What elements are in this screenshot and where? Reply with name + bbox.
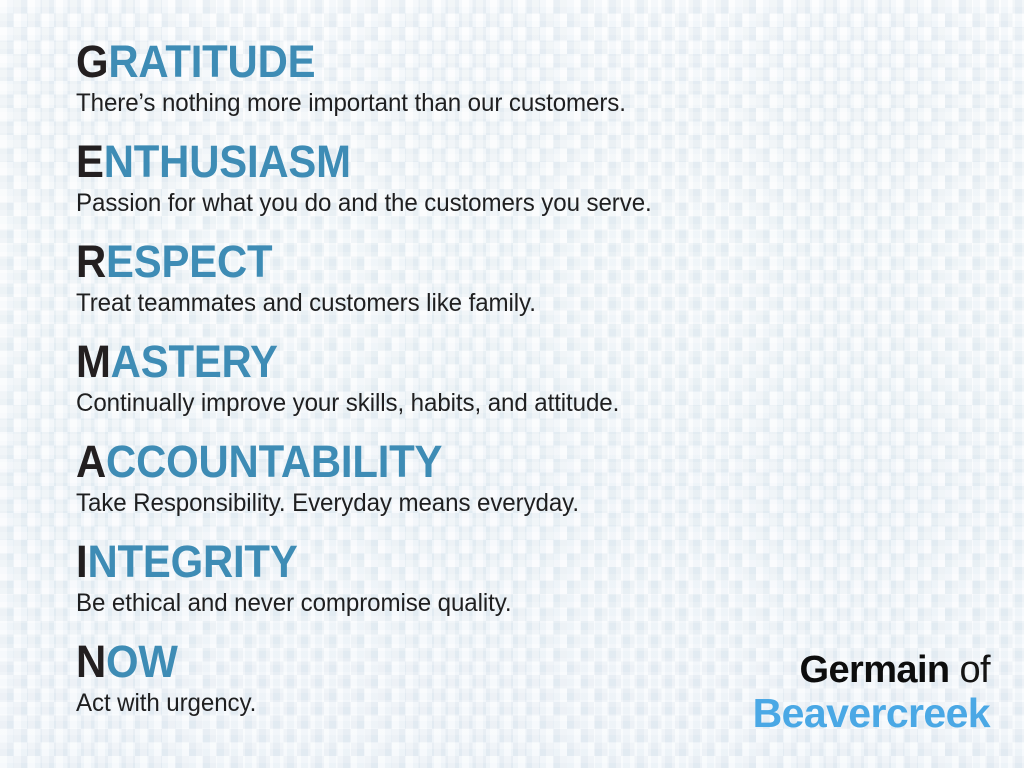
value-description-mastery: Continually improve your skills, habits,… [76, 390, 619, 416]
value-description-accountability: Take Responsibility. Everyday means ever… [76, 490, 579, 516]
value-block-now: NOW Act with urgency. [76, 639, 263, 716]
dealership-logo: Germain of Beavercreek [753, 651, 990, 734]
poster-content: GRATITUDE There’s nothing more important… [0, 0, 1024, 768]
value-remaining-letters: OW [106, 636, 178, 687]
value-description-gratitude: There’s nothing more important than our … [76, 90, 626, 116]
value-heading-gratitude: GRATITUDE [76, 39, 606, 84]
logo-brand-name: Germain [800, 649, 950, 691]
value-description-integrity: Be ethical and never compromise quality. [76, 590, 512, 616]
logo-location-name: Beavercreek [753, 693, 990, 734]
value-block-respect: RESPECT Treat teammates and customers li… [76, 239, 553, 316]
value-description-respect: Treat teammates and customers like famil… [76, 290, 536, 316]
poster-canvas: GRATITUDE There’s nothing more important… [0, 0, 1024, 768]
value-remaining-letters: RATITUDE [108, 36, 315, 87]
logo-primary-line: Germain of [753, 651, 990, 689]
value-remaining-letters: CCOUNTABILITY [106, 436, 442, 487]
value-heading-now: NOW [76, 639, 250, 684]
value-initial-letter: N [76, 636, 106, 687]
logo-connector-word: of [960, 649, 991, 691]
value-heading-enthusiasm: ENTHUSIASM [76, 139, 631, 184]
value-initial-letter: M [76, 336, 111, 387]
value-heading-respect: RESPECT [76, 239, 519, 284]
value-remaining-letters: ASTERY [111, 336, 278, 387]
value-remaining-letters: NTEGRITY [87, 536, 297, 587]
value-initial-letter: A [76, 436, 106, 487]
value-block-enthusiasm: ENTHUSIASM Passion for what you do and t… [76, 139, 673, 216]
value-block-integrity: INTEGRITY Be ethical and never compromis… [76, 539, 527, 616]
value-initial-letter: G [76, 36, 108, 87]
value-initial-letter: I [76, 536, 87, 587]
value-description-enthusiasm: Passion for what you do and the customer… [76, 190, 652, 216]
value-initial-letter: E [76, 136, 104, 187]
value-heading-accountability: ACCOUNTABILITY [76, 439, 561, 484]
value-description-now: Act with urgency. [76, 690, 256, 716]
value-block-mastery: MASTERY Continually improve your skills,… [76, 339, 639, 416]
value-block-gratitude: GRATITUDE There’s nothing more important… [76, 39, 646, 116]
value-initial-letter: R [76, 236, 106, 287]
value-remaining-letters: ESPECT [106, 236, 272, 287]
value-heading-integrity: INTEGRITY [76, 539, 496, 584]
value-remaining-letters: NTHUSIASM [104, 136, 351, 187]
value-block-accountability: ACCOUNTABILITY Take Responsibility. Ever… [76, 439, 597, 516]
value-heading-mastery: MASTERY [76, 339, 600, 384]
